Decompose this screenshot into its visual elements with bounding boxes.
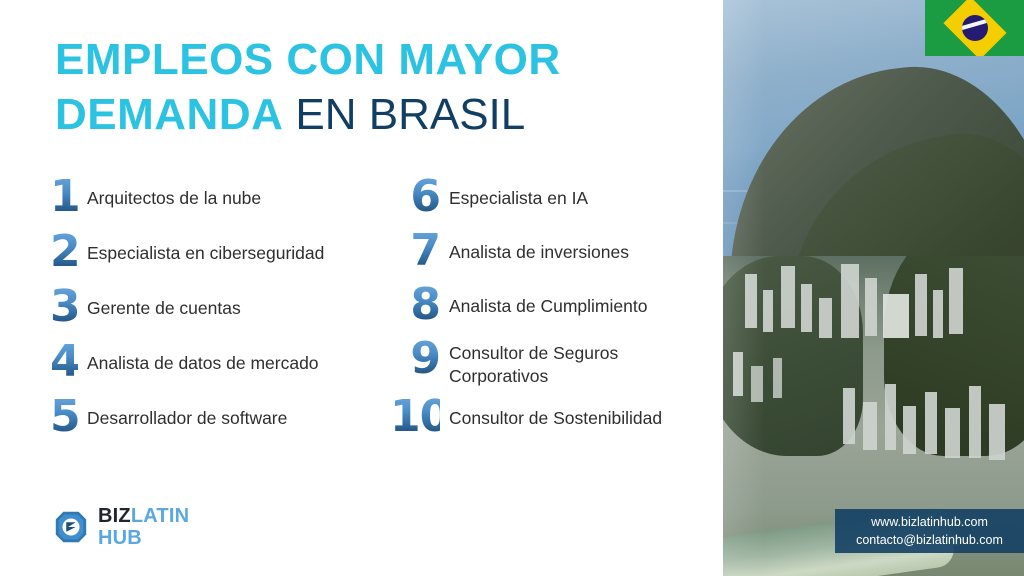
list-item-label: Gerente de cuentas	[78, 285, 241, 320]
title-rest: EN BRASIL	[295, 90, 525, 139]
title-line-2: DEMANDAEN BRASIL	[55, 89, 695, 142]
list-item: 5 Desarrollador de software	[50, 395, 380, 438]
list-item: 7 Analista de inversiones	[390, 229, 720, 272]
logo-word-hub: HUB	[98, 528, 189, 548]
list-item: 1 Arquitectos de la nube	[50, 175, 380, 218]
list-item-number: 5	[50, 395, 78, 438]
contact-box[interactable]: www.bizlatinhub.com contacto@bizlatinhub…	[835, 509, 1024, 553]
list-item: 9 Consultor de Seguros Corporativos	[390, 337, 720, 388]
list-item-number: 4	[50, 340, 78, 383]
logo-row-1: BIZLATIN	[98, 505, 189, 527]
list-item: 4 Analista de datos de mercado	[50, 340, 380, 383]
logo-wordmark: BIZLATIN HUB	[98, 506, 189, 548]
list-column-left: 1 Arquitectos de la nube 2 Especialista …	[50, 175, 380, 439]
list-item: 2 Especialista en ciberseguridad	[50, 230, 380, 273]
page-title: EMPLEOS CON MAYOR DEMANDAEN BRASIL	[55, 34, 695, 142]
contact-website[interactable]: www.bizlatinhub.com	[871, 513, 988, 531]
list-item-label: Consultor de Sostenibilidad	[440, 395, 662, 430]
list-item-label: Especialista en IA	[440, 175, 588, 210]
title-highlight-2: DEMANDA	[55, 90, 283, 139]
title-highlight-1: EMPLEOS CON MAYOR	[55, 35, 561, 84]
list-item: 3 Gerente de cuentas	[50, 285, 380, 328]
list-item: 8 Analista de Cumplimiento	[390, 283, 720, 326]
list-item-label: Especialista en ciberseguridad	[78, 230, 324, 265]
logo-word-latin: LATIN	[131, 505, 189, 527]
list-column-right: 6 Especialista en IA 7 Analista de inver…	[390, 175, 720, 438]
content-area: EMPLEOS CON MAYOR DEMANDAEN BRASIL 1 Arq…	[0, 0, 723, 576]
list-item-label: Analista de inversiones	[440, 229, 629, 264]
list-item-label: Consultor de Seguros Corporativos	[440, 337, 655, 388]
list-item-number: 1	[50, 175, 78, 218]
list-item-number: 10	[390, 395, 440, 438]
list-item-label: Desarrollador de software	[78, 395, 287, 430]
list-item-number: 8	[390, 283, 440, 326]
flag-globe	[962, 15, 988, 41]
list-item: 10 Consultor de Sostenibilidad	[390, 395, 720, 438]
logo-word-biz: BIZ	[98, 505, 131, 527]
list-item-number: 9	[390, 337, 440, 380]
flag-band	[962, 17, 988, 31]
list-item-label: Arquitectos de la nube	[78, 175, 261, 210]
biz-latin-hub-mark-icon	[52, 508, 90, 546]
infographic-slide: EMPLEOS CON MAYOR DEMANDAEN BRASIL 1 Arq…	[0, 0, 1024, 576]
list-item-number: 7	[390, 229, 440, 272]
brand-logo[interactable]: BIZLATIN HUB	[52, 506, 189, 548]
list-item-number: 3	[50, 285, 78, 328]
title-line-1: EMPLEOS CON MAYOR	[55, 34, 695, 87]
contact-email[interactable]: contacto@bizlatinhub.com	[856, 531, 1003, 549]
list-item-label: Analista de Cumplimiento	[440, 283, 647, 318]
list-item-label: Analista de datos de mercado	[78, 340, 319, 375]
list-item-number: 6	[390, 175, 440, 218]
rio-de-janeiro-cityscape-photo	[723, 0, 1024, 576]
list-item: 6 Especialista en IA	[390, 175, 720, 218]
list-item-number: 2	[50, 230, 78, 273]
ranked-job-list: 1 Arquitectos de la nube 2 Especialista …	[0, 175, 723, 475]
brazil-flag-icon	[925, 0, 1024, 56]
